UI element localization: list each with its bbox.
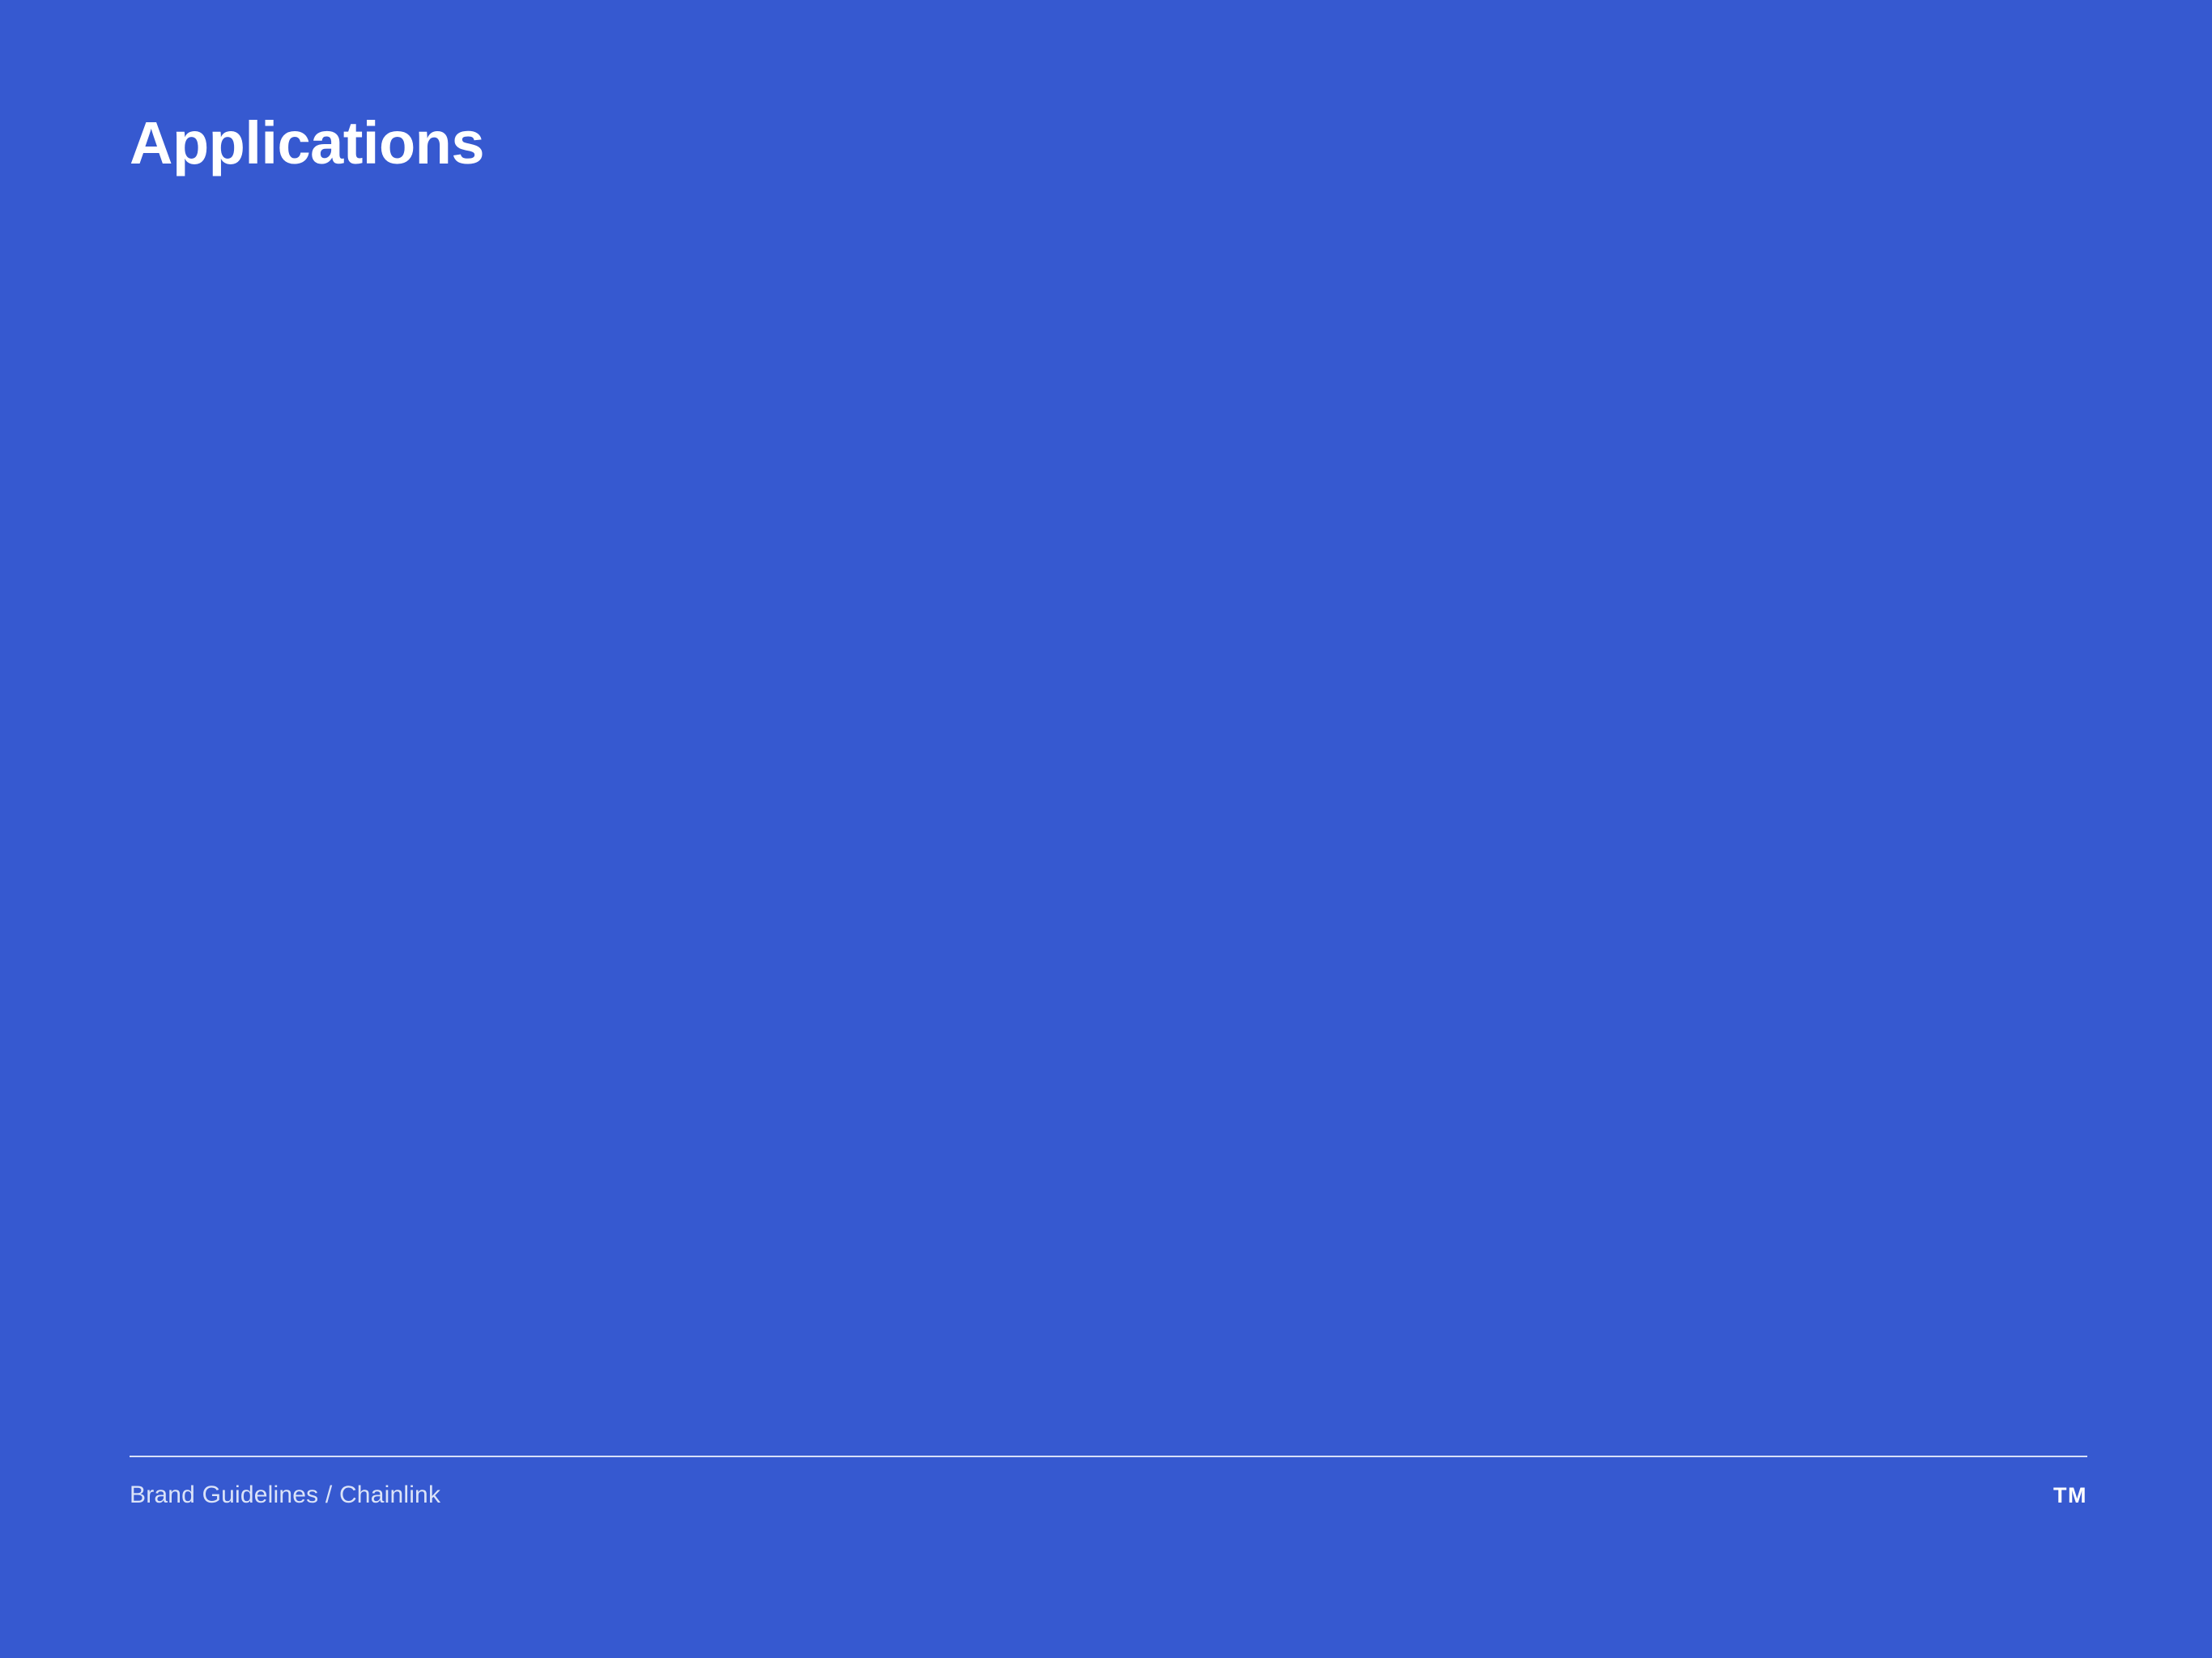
page-title-area: Applications xyxy=(130,113,1749,173)
slide-footer: Brand Guidelines / Chainlink TM xyxy=(130,1456,2087,1533)
footer-caption: Brand Guidelines / Chainlink xyxy=(130,1483,440,1507)
trademark-mark: TM xyxy=(2053,1485,2087,1507)
slide-content-canvas xyxy=(130,243,2087,1448)
page-title: Applications xyxy=(130,113,1749,173)
brand-guidelines-slide: Applications Brand Guidelines / Chainlin… xyxy=(0,0,2212,1658)
footer-row: Brand Guidelines / Chainlink TM xyxy=(130,1457,2087,1533)
